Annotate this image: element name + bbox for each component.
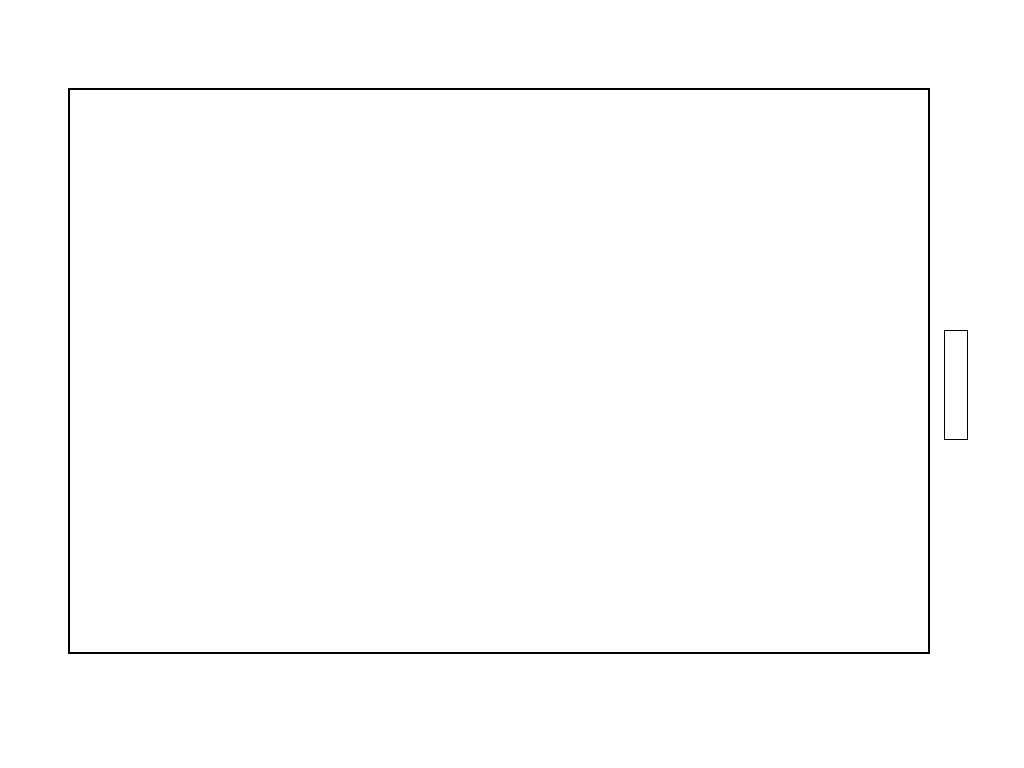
colorbar-body (944, 330, 968, 440)
plot-frame (68, 88, 930, 654)
chart-page (0, 0, 1024, 768)
colorbar-below-025-arrow (944, 296, 968, 332)
heatmap-canvas (70, 90, 928, 652)
